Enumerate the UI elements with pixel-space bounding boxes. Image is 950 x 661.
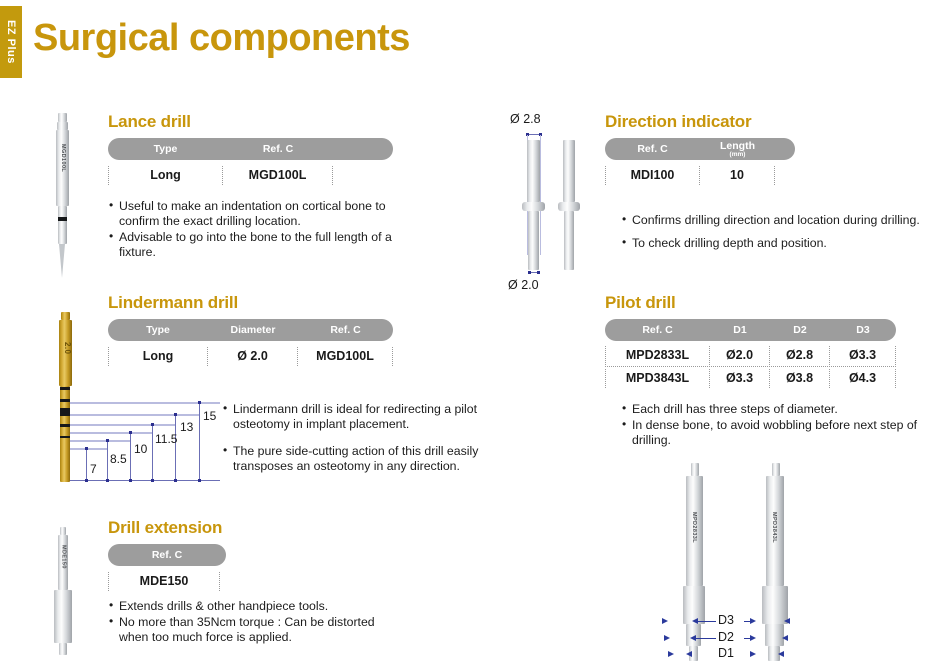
dim-vertical <box>86 448 87 481</box>
dim-vertical <box>152 424 153 481</box>
drill-body: 2.0 <box>59 320 72 386</box>
pilot-drill-bullets: Each drill has three steps of diameter. … <box>605 402 925 448</box>
bullet-item: To check drilling depth and position. <box>621 236 925 251</box>
callout-d3: D3 <box>718 613 734 627</box>
dim-label: 15 <box>203 409 216 423</box>
dim-label: 7 <box>90 462 97 476</box>
arrow-icon <box>664 635 670 641</box>
extension-body: MDE150 <box>58 535 68 590</box>
col-ref-c: Ref. C <box>298 324 393 336</box>
table-row: MDI100 10 <box>605 164 925 187</box>
direction-indicator-pin <box>562 140 578 270</box>
drill-tip <box>59 244 65 278</box>
table-row: Long MGD100L <box>108 164 393 187</box>
leader-line <box>70 432 152 434</box>
pin-flange <box>522 202 545 211</box>
drill-extension-image: MDE150 <box>50 527 76 657</box>
cell-diameter: Ø 2.0 <box>208 347 298 366</box>
extension-connector <box>60 527 66 535</box>
direction-indicator-pin <box>526 140 542 270</box>
table-row: MPD2833L Ø2.0 Ø2.8 Ø3.3 <box>605 344 896 367</box>
col-type: Type <box>108 143 223 155</box>
section-lance-drill: Lance drill Type Ref. C Long MGD100L Use… <box>108 112 393 261</box>
bullet-item: Extends drills & other handpiece tools. <box>108 599 398 614</box>
dim-node <box>85 479 88 482</box>
table-row: MPD3843L Ø3.3 Ø3.8 Ø4.3 <box>605 367 896 390</box>
callout-d2: D2 <box>718 630 734 644</box>
drill-connector <box>58 113 67 122</box>
direction-indicator-bullets: Confirms drilling direction and location… <box>605 213 925 251</box>
pilot-drill-diagram: MPD2833L MPD3843L D3 D2 <box>660 458 940 661</box>
drill-connector <box>61 312 70 320</box>
dim-node <box>151 479 154 482</box>
dim-vertical <box>199 402 200 481</box>
arrow-icon <box>750 618 756 624</box>
drill-engraving: MPD2833L <box>691 512 697 543</box>
arrow-icon <box>662 618 668 624</box>
leader-line <box>70 414 200 416</box>
bullet-item: Confirms drilling direction and location… <box>621 213 925 228</box>
dim-node <box>85 447 88 450</box>
lance-drill-title: Lance drill <box>108 112 393 132</box>
extension-tip <box>59 643 67 655</box>
lindermann-drill-table-header: Type Diameter Ref. C <box>108 319 393 341</box>
dim-node <box>129 431 132 434</box>
diameter-label-bottom: Ø 2.0 <box>508 278 539 292</box>
col-ref-c: Ref. C <box>605 324 710 336</box>
dim-node <box>129 479 132 482</box>
dim-node <box>106 439 109 442</box>
direction-indicator-table-header: Ref. C Length (mm) <box>605 138 795 160</box>
pin-lower <box>528 211 539 270</box>
section-drill-extension: Drill extension Ref. C MDE150 Extends dr… <box>108 518 398 646</box>
arrow-icon <box>782 635 788 641</box>
cell-ref-c: MPD3843L <box>605 369 710 388</box>
lance-drill-table-header: Type Ref. C <box>108 138 393 160</box>
table-row: Long Ø 2.0 MGD100L <box>108 345 393 368</box>
drill-extension-bullets: Extends drills & other handpiece tools. … <box>108 599 398 645</box>
cell-d2: Ø3.8 <box>770 369 830 388</box>
section-direction-indicator: Direction indicator Ref. C Length (mm) M… <box>605 112 925 252</box>
col-diameter: Diameter <box>208 324 298 336</box>
page-title: Surgical components <box>33 17 410 60</box>
drill-engraving: 2.0 <box>63 342 72 354</box>
col-length: Length (mm) <box>700 140 775 158</box>
arrow-icon <box>778 651 784 657</box>
arrow-icon <box>668 651 674 657</box>
cell-d3: Ø3.3 <box>830 346 896 365</box>
dim-node <box>174 479 177 482</box>
page-root: EZ Plus Surgical components Lance drill … <box>0 0 950 661</box>
drill-extension-title: Drill extension <box>108 518 398 538</box>
side-tab-label: EZ Plus <box>5 20 17 64</box>
table-row: MDE150 <box>108 570 398 593</box>
cell-type: Long <box>108 166 223 185</box>
dim-node <box>174 413 177 416</box>
dim-node <box>198 401 201 404</box>
bullet-item: No more than 35Ncm torque : Can be disto… <box>108 615 398 645</box>
lindermann-depth-diagram: 7 8.5 10 11.5 13 15 <box>62 400 222 485</box>
drill-body: MPD2833L <box>686 476 703 586</box>
cell-d2: Ø2.8 <box>770 346 830 365</box>
diameter-label-top: Ø 2.8 <box>510 112 541 126</box>
lance-drill-image: MGD100L <box>52 113 74 278</box>
col-length-unit: (mm) <box>700 152 775 158</box>
col-d1: D1 <box>710 324 770 336</box>
cell-ref-c: MPD2833L <box>605 346 710 365</box>
pilot-drill-image: MPD3843L <box>760 463 796 661</box>
bullet-item: In dense bone, to avoid wobbling before … <box>621 418 925 448</box>
arrow-icon <box>686 651 692 657</box>
col-ref-c: Ref. C <box>223 143 333 155</box>
dim-node <box>151 423 154 426</box>
pin-flange <box>558 202 580 211</box>
leader-line <box>70 440 130 442</box>
lindermann-drill-title: Lindermann drill <box>108 293 393 313</box>
dim-node <box>537 271 540 274</box>
extension-engraving: MDE150 <box>61 545 67 569</box>
drill-connector <box>691 463 699 476</box>
arrow-icon <box>784 618 790 624</box>
drill-extension-table-header: Ref. C <box>108 544 226 566</box>
cell-d1: Ø2.0 <box>710 346 770 365</box>
pin-lower <box>564 211 574 270</box>
extension-barrel <box>54 590 72 643</box>
section-pilot-drill: Pilot drill Ref. C D1 D2 D3 MPD2833L Ø2.… <box>605 293 925 449</box>
col-d2: D2 <box>770 324 830 336</box>
lindermann-drill-bullets: Lindermann drill is ideal for redirectin… <box>222 402 484 475</box>
dim-vertical <box>175 414 176 481</box>
dim-label: 8.5 <box>110 452 127 466</box>
arrow-icon <box>750 651 756 657</box>
depth-band <box>58 217 67 221</box>
cell-ref-c: MDE150 <box>108 572 220 591</box>
pin-upper <box>563 140 575 202</box>
col-ref-c: Ref. C <box>108 549 226 561</box>
drill-shank <box>58 206 67 244</box>
dim-node <box>528 271 531 274</box>
drill-engraving: MPD3843L <box>771 512 777 543</box>
dim-label: 10 <box>134 442 147 456</box>
callout-d1: D1 <box>718 646 734 660</box>
cell-ref-c: MGD100L <box>223 166 333 185</box>
dim-node <box>198 479 201 482</box>
bullet-item: Each drill has three steps of diameter. <box>621 402 925 417</box>
cell-d3: Ø4.3 <box>830 369 896 388</box>
cell-ref-c: MDI100 <box>605 166 700 185</box>
bullet-item: Lindermann drill is ideal for redirectin… <box>222 402 484 432</box>
drill-collar <box>57 122 68 130</box>
pin-upper <box>527 140 540 202</box>
dim-node <box>106 479 109 482</box>
cell-type: Long <box>108 347 208 366</box>
dim-vertical <box>130 432 131 481</box>
drill-engraving: MGD100L <box>60 144 66 172</box>
cell-ref-c: MGD100L <box>298 347 393 366</box>
leader-line <box>70 424 175 426</box>
bullet-item: The pure side-cutting action of this dri… <box>222 444 484 474</box>
drill-connector <box>772 463 780 476</box>
drill-body: MPD3843L <box>766 476 784 586</box>
lance-drill-bullets: Useful to make an indentation on cortica… <box>108 199 393 260</box>
direction-indicator-title: Direction indicator <box>605 112 925 132</box>
pilot-drill-image: MPD2833L <box>680 463 714 661</box>
depth-band <box>60 387 70 390</box>
cell-length: 10 <box>700 166 775 185</box>
callout-line <box>696 638 716 639</box>
side-tab-ez-plus: EZ Plus <box>0 6 22 78</box>
drill-body: MGD100L <box>56 130 69 206</box>
col-type: Type <box>108 324 208 336</box>
section-lindermann-drill: Lindermann drill Type Diameter Ref. C Lo… <box>108 293 393 368</box>
cell-d1: Ø3.3 <box>710 369 770 388</box>
leader-line <box>70 448 108 450</box>
direction-indicator-diagram: Ø 2.8 Ø 2.0 <box>500 112 595 297</box>
pilot-drill-title: Pilot drill <box>605 293 925 313</box>
arrow-icon <box>750 635 756 641</box>
bullet-item: Advisable to go into the bone to the ful… <box>108 230 393 260</box>
dim-vertical <box>107 440 108 481</box>
dim-label: 11.5 <box>155 432 177 446</box>
col-d3: D3 <box>830 324 896 336</box>
dim-label: 13 <box>180 420 193 434</box>
bullet-item: Useful to make an indentation on cortica… <box>108 199 393 229</box>
callout-line <box>698 621 716 622</box>
pilot-drill-table-header: Ref. C D1 D2 D3 <box>605 319 896 341</box>
col-ref-c: Ref. C <box>605 143 700 155</box>
